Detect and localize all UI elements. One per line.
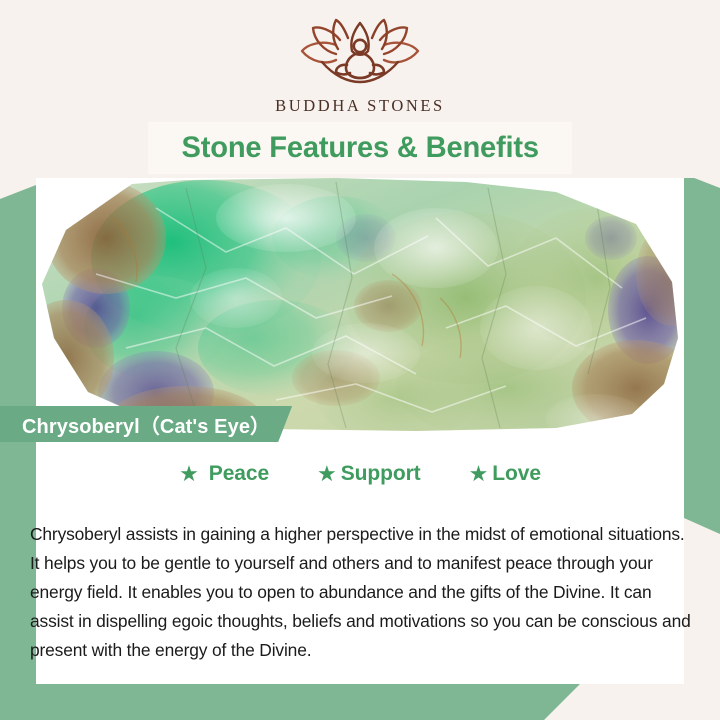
stone-name-banner: Chrysoberyl（Cat's Eye） — [0, 406, 292, 442]
product-info-card: BUDDHA STONES Stone Features & Benefits — [0, 0, 720, 720]
brand-logo: BUDDHA STONES — [0, 18, 720, 116]
star-icon: ★ — [317, 463, 337, 485]
stone-description: Chrysoberyl assists in gaining a higher … — [30, 520, 694, 665]
page-title: Stone Features & Benefits — [181, 131, 538, 165]
benefit-love: ★ Love — [469, 462, 541, 486]
stone-name: Chrysoberyl（Cat's Eye） — [22, 410, 270, 439]
star-icon: ★ — [179, 463, 199, 485]
benefit-label: Support — [341, 462, 421, 486]
decorative-frame-right — [684, 174, 720, 534]
lotus-meditation-figure-icon — [278, 18, 442, 90]
stone-photo — [36, 178, 684, 431]
page-title-plate: Stone Features & Benefits — [148, 122, 572, 174]
benefit-support: ★ Support — [317, 462, 421, 486]
benefit-label: Love — [492, 462, 541, 486]
benefits-row: ★ Peace ★ Support ★ Love — [36, 462, 684, 486]
stone-photo-graphic — [36, 178, 684, 431]
brand-name: BUDDHA STONES — [0, 96, 720, 116]
benefit-label: Peace — [209, 462, 269, 486]
decorative-frame-bottom — [0, 684, 580, 720]
benefit-peace: ★ Peace — [179, 462, 269, 486]
star-icon: ★ — [469, 463, 489, 485]
